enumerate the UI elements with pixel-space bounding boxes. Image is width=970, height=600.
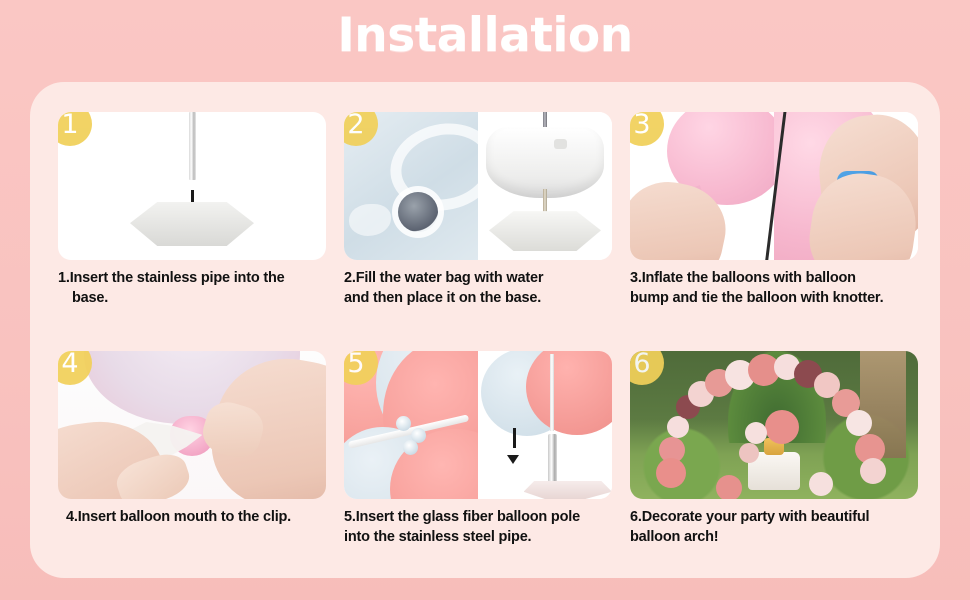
arch-balloon bbox=[716, 475, 742, 499]
step-1: 1 1.Insert the stainless pipe into the b… bbox=[58, 112, 326, 325]
pole-into-pipe-panel bbox=[478, 351, 612, 499]
step-3-caption-line-2: bump and tie the balloon with knotter. bbox=[630, 289, 918, 309]
step-2-photo: 2 bbox=[344, 112, 612, 260]
step-3-caption-line-1: 3.Inflate the balloons with balloon bbox=[630, 269, 918, 289]
hexagonal-base-plate bbox=[130, 202, 254, 246]
installation-infographic: Installation 1 1.Insert the stainless pi… bbox=[0, 0, 970, 600]
step-2-caption: 2.Fill the water bag with water and then… bbox=[344, 269, 612, 308]
arch-balloon bbox=[656, 458, 686, 488]
step-5-photo: 5 bbox=[344, 351, 612, 499]
step-2: 2 2.Fill the water bag with water and th… bbox=[344, 112, 612, 325]
knotter-panel bbox=[774, 112, 918, 260]
step-3: 3 3.Inflate the balloons with ball bbox=[630, 112, 918, 325]
balloon-clip bbox=[403, 440, 418, 455]
arch-balloon bbox=[860, 458, 886, 484]
step-2-caption-line-1: 2.Fill the water bag with water bbox=[344, 269, 612, 289]
glass-fiber-pole bbox=[550, 354, 554, 431]
bag-fold bbox=[349, 204, 391, 236]
stainless-pipe-icon bbox=[189, 112, 196, 180]
base-plate bbox=[524, 481, 612, 499]
step-5-caption: 5.Insert the glass fiber balloon pole in… bbox=[344, 508, 612, 547]
step-6-badge: 6 bbox=[630, 351, 664, 385]
down-arrow-icon bbox=[513, 428, 516, 448]
step-3-caption: 3.Inflate the balloons with balloon bump… bbox=[630, 269, 918, 308]
step-6: 6 bbox=[630, 351, 918, 564]
water-bag-valve-icon bbox=[398, 192, 438, 232]
steps-grid: 1 1.Insert the stainless pipe into the b… bbox=[30, 82, 940, 578]
step-4-photo: 4 bbox=[58, 351, 326, 499]
step-1-caption-line-2: base. bbox=[58, 289, 326, 309]
water-bag-on-base-panel bbox=[478, 112, 612, 260]
step-6-caption: 6.Decorate your party with beautiful bal… bbox=[630, 508, 918, 547]
step-6-photo: 6 bbox=[630, 351, 918, 499]
arch-balloon bbox=[667, 416, 689, 438]
bag-cap-icon bbox=[554, 139, 567, 149]
arch-balloon bbox=[809, 472, 833, 496]
step-1-photo: 1 bbox=[58, 112, 326, 260]
step-4-caption: 4.Insert balloon mouth to the clip. bbox=[58, 508, 326, 528]
filled-water-bag bbox=[486, 127, 604, 198]
step-3-photo: 3 bbox=[630, 112, 918, 260]
step-1-caption: 1.Insert the stainless pipe into the bas… bbox=[58, 269, 326, 308]
step-4: 4 4.Insert balloon mouth to the clip. bbox=[58, 351, 326, 564]
step-1-caption-line-1: 1.Insert the stainless pipe into the bbox=[58, 269, 326, 289]
step-4-badge: 4 bbox=[58, 351, 92, 385]
step-6-caption-line-2: balloon arch! bbox=[630, 528, 918, 548]
down-arrow-head-icon bbox=[507, 455, 519, 464]
step-2-caption-line-2: and then place it on the base. bbox=[344, 289, 612, 309]
hexagonal-base-plate bbox=[489, 211, 601, 251]
step-5-caption-line-2: into the stainless steel pipe. bbox=[344, 528, 612, 548]
step-6-caption-line-1: 6.Decorate your party with beautiful bbox=[630, 508, 918, 528]
step-5: 5 bbox=[344, 351, 612, 564]
step-1-badge: 1 bbox=[58, 112, 92, 146]
page-title: Installation bbox=[0, 8, 970, 63]
step-5-caption-line-1: 5.Insert the glass fiber balloon pole bbox=[344, 508, 612, 528]
step-4-caption-line-1: 4.Insert balloon mouth to the clip. bbox=[58, 508, 326, 528]
arch-balloon bbox=[846, 410, 872, 436]
